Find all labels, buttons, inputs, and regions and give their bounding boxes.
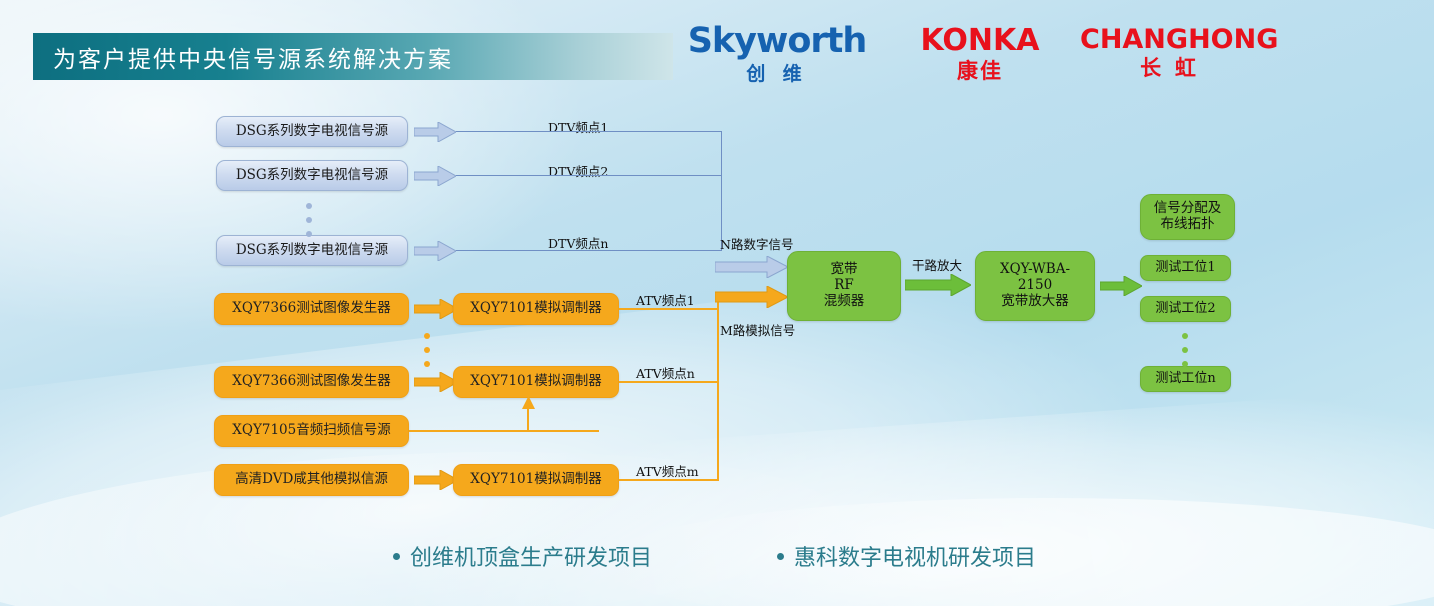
footer-bullets: 创维机顶盒生产研发项目 惠科数字电视机研发项目	[0, 533, 1434, 579]
modulator-box-1[interactable]: XQY7101模拟调制器	[453, 293, 619, 325]
dtv-channel-label-1: DTV频点1	[548, 117, 608, 136]
rf-mixer-line2: RF	[834, 278, 854, 294]
test-station-box-3[interactable]: 测试工位n	[1140, 366, 1231, 392]
amplify-arrow	[905, 274, 971, 296]
broadband-amplifier-box[interactable]: XQY-WBA- 2150 宽带放大器	[975, 251, 1095, 321]
logo-changhong: CHANGHONG 长 虹	[1080, 26, 1260, 79]
dtv-line-3	[456, 250, 721, 251]
analog-trunk-label: M路模拟信号	[720, 320, 795, 339]
audio-source-box[interactable]: XQY7105音频扫频信号源	[214, 415, 409, 447]
dtv-line-1	[456, 131, 721, 132]
dtv-bus-vertical	[721, 131, 722, 251]
digital-trunk-label: N路数字信号	[720, 234, 793, 253]
test-station-box-1[interactable]: 测试工位1	[1140, 255, 1231, 281]
test-station-ellipsis	[1182, 333, 1188, 367]
logo-konka-cn: 康佳	[900, 61, 1060, 82]
analog-generator-arrow-1	[414, 299, 458, 319]
digital-source-arrow-1	[414, 122, 456, 142]
amplifier-line3: 宽带放大器	[1001, 294, 1069, 310]
modulator-box-2[interactable]: XQY7101模拟调制器	[453, 366, 619, 398]
digital-source-ellipsis	[306, 203, 312, 237]
dtv-line-2	[456, 175, 721, 176]
distribution-line2: 布线拓扑	[1161, 217, 1215, 233]
test-station-box-2[interactable]: 测试工位2	[1140, 296, 1231, 322]
logo-skyworth-cn: 创 维	[672, 65, 882, 84]
atv-channel-label-3: ATV频点m	[636, 461, 699, 480]
page-title: 为客户提供中央信号源系统解决方案	[33, 40, 453, 74]
footer-bullet-2-label: 惠科数字电视机研发项目	[794, 540, 1036, 572]
modulator-box-3[interactable]: XQY7101模拟调制器	[453, 464, 619, 496]
dtv-channel-label-2: DTV频点2	[548, 161, 608, 180]
logo-changhong-en: CHANGHONG	[1080, 26, 1260, 53]
digital-trunk-arrow	[715, 256, 788, 278]
logo-skyworth: Skyworth 创 维	[672, 24, 882, 84]
rf-mixer-line1: 宽带	[831, 262, 858, 278]
slide-canvas: 为客户提供中央信号源系统解决方案 Skyworth 创 维 KONKA 康佳 C…	[0, 0, 1434, 606]
amplifier-line2: 2150	[1018, 278, 1052, 294]
logo-skyworth-en: Skyworth	[672, 24, 882, 59]
digital-source-arrow-3	[414, 241, 456, 261]
footer-bullet-1-label: 创维机顶盒生产研发项目	[410, 540, 652, 572]
analog-generator-ellipsis	[424, 333, 430, 367]
digital-source-box-3[interactable]: DSG系列数字电视信号源	[216, 235, 408, 266]
distribution-arrow	[1100, 276, 1142, 296]
footer-bullet-1: 创维机顶盒生产研发项目	[393, 540, 652, 572]
audio-feed-horizontal	[409, 430, 599, 432]
logo-konka: KONKA 康佳	[900, 26, 1060, 82]
dvd-source-box[interactable]: 高清DVD咸其他模拟信源	[214, 464, 409, 496]
analog-generator-box-1[interactable]: XQY7366测试图像发生器	[214, 293, 409, 325]
digital-source-box-1[interactable]: DSG系列数字电视信号源	[216, 116, 408, 147]
amplifier-line1: XQY-WBA-	[1000, 262, 1070, 278]
audio-feed-arrowhead	[521, 396, 536, 410]
page-title-bar: 为客户提供中央信号源系统解决方案	[33, 33, 673, 80]
rf-mixer-box[interactable]: 宽带 RF 混频器	[787, 251, 901, 321]
atv-channel-label-2: ATV频点n	[636, 363, 695, 382]
atv-line-1	[619, 308, 719, 310]
bullet-dot-icon	[393, 553, 400, 560]
analog-trunk-arrow	[715, 286, 788, 308]
atv-line-2	[619, 381, 719, 383]
atv-line-3	[619, 479, 719, 481]
rf-mixer-line3: 混频器	[824, 294, 865, 310]
logo-changhong-cn: 长 虹	[1080, 58, 1260, 79]
digital-source-box-2[interactable]: DSG系列数字电视信号源	[216, 160, 408, 191]
logo-konka-en: KONKA	[900, 26, 1060, 56]
distribution-topology-box[interactable]: 信号分配及 布线拓扑	[1140, 194, 1235, 240]
analog-generator-arrow-2	[414, 372, 458, 392]
analog-generator-box-2[interactable]: XQY7366测试图像发生器	[214, 366, 409, 398]
atv-channel-label-1: ATV频点1	[636, 290, 695, 309]
atv-bus-vertical	[717, 296, 719, 481]
dvd-source-arrow	[414, 470, 458, 490]
digital-source-arrow-2	[414, 166, 456, 186]
amplify-label: 干路放大	[912, 255, 962, 274]
bullet-dot-icon	[777, 553, 784, 560]
footer-bullet-2: 惠科数字电视机研发项目	[777, 540, 1036, 572]
distribution-line1: 信号分配及	[1154, 201, 1222, 217]
